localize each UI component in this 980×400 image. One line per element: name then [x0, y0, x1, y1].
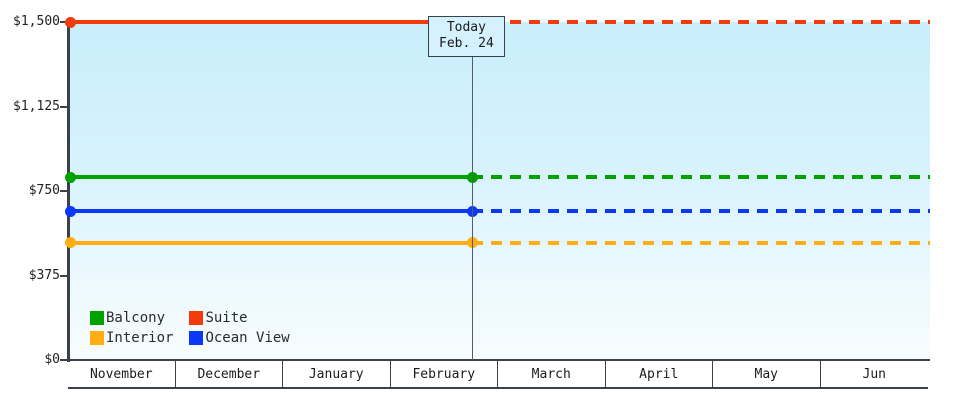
- legend-swatch-icon: [189, 311, 203, 325]
- y-axis-line: [67, 22, 70, 362]
- y-axis-label: $0: [0, 353, 60, 366]
- series-line-forecast: [472, 241, 930, 245]
- y-axis-tick: [60, 106, 68, 108]
- y-axis-label: $1,125: [0, 100, 60, 113]
- today-tooltip-line2: Feb. 24: [439, 36, 494, 52]
- legend-swatch-icon: [189, 331, 203, 345]
- series-line-actual: [70, 209, 472, 213]
- y-axis-label-text: $1,500: [2, 15, 60, 28]
- y-axis-label-text: $750: [2, 184, 60, 197]
- today-tooltip: Today Feb. 24: [428, 16, 505, 57]
- series-line-actual: [70, 175, 472, 179]
- x-axis-month-cell[interactable]: April: [606, 361, 714, 389]
- legend-item-label: Suite: [205, 310, 247, 326]
- x-axis-month-cell[interactable]: January: [283, 361, 391, 389]
- series-line-forecast: [472, 175, 930, 179]
- x-axis-month-cell[interactable]: March: [498, 361, 606, 389]
- series-line-actual: [70, 20, 472, 24]
- series-line-forecast: [472, 20, 930, 24]
- legend-item-label: Balcony: [106, 310, 165, 326]
- legend-swatch-icon: [90, 331, 104, 345]
- today-tooltip-line1: Today: [439, 20, 494, 36]
- x-axis-month-cell[interactable]: May: [713, 361, 821, 389]
- legend-item[interactable]: Balcony: [90, 310, 173, 326]
- legend-item[interactable]: Suite: [189, 310, 289, 326]
- chart-legend: BalconySuiteInteriorOcean View: [90, 310, 290, 346]
- x-axis-months: NovemberDecemberJanuaryFebruaryMarchApri…: [68, 361, 930, 389]
- series-line-actual: [70, 241, 472, 245]
- series-point-start: [65, 17, 76, 28]
- x-axis-month-cell[interactable]: November: [68, 361, 176, 389]
- legend-item[interactable]: Interior: [90, 330, 173, 346]
- y-axis-tick: [60, 190, 68, 192]
- legend-swatch-icon: [90, 311, 104, 325]
- series-point-start: [65, 172, 76, 183]
- x-axis-month-cell[interactable]: December: [176, 361, 284, 389]
- y-axis-label-text: $0: [2, 353, 60, 366]
- chart-widget: $0$375$750$1,125$1,500 Today Feb. 24 Bal…: [0, 0, 980, 400]
- legend-item[interactable]: Ocean View: [189, 330, 289, 346]
- y-axis-label: $375: [0, 269, 60, 282]
- legend-item-label: Ocean View: [205, 330, 289, 346]
- legend-item-label: Interior: [106, 330, 173, 346]
- y-axis-label: $750: [0, 184, 60, 197]
- series-line-forecast: [472, 209, 930, 213]
- y-axis-label-text: $1,125: [2, 100, 60, 113]
- y-axis-label-text: $375: [2, 269, 60, 282]
- series-point-start: [65, 206, 76, 217]
- y-axis-tick: [60, 275, 68, 277]
- today-marker-line: [472, 22, 473, 360]
- x-axis-month-cell[interactable]: February: [391, 361, 499, 389]
- y-axis-label: $1,500: [0, 15, 60, 28]
- y-axis-tick: [60, 359, 68, 361]
- x-axis-month-cell[interactable]: Jun: [821, 361, 929, 389]
